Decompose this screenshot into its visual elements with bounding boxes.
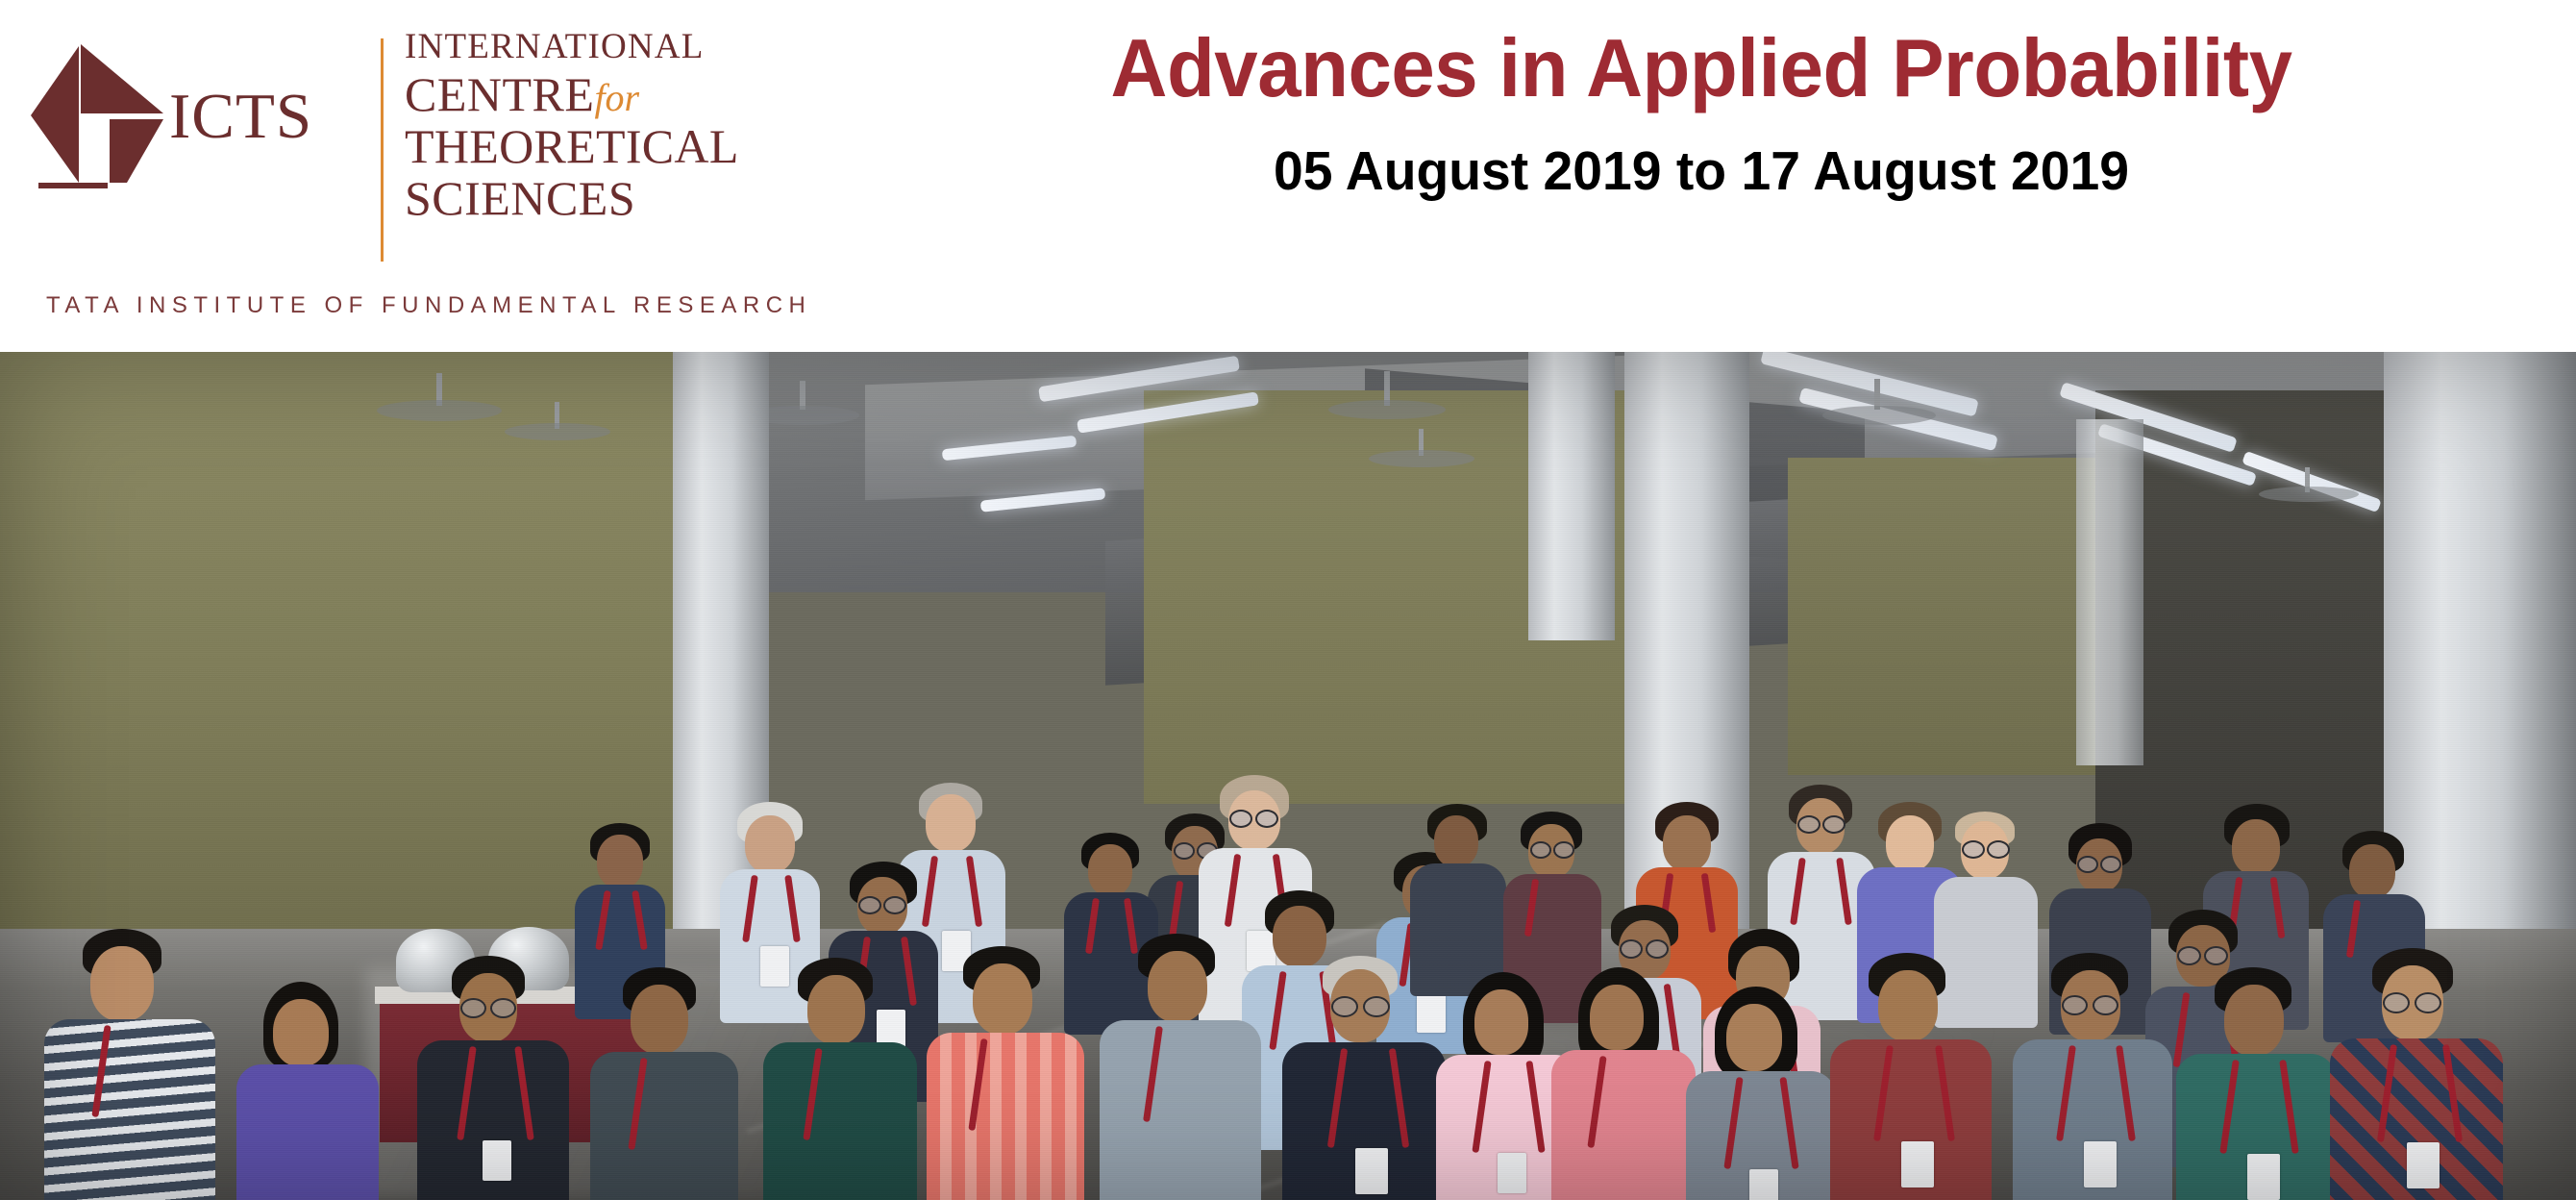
ceiling-fan — [1822, 406, 1936, 425]
person — [231, 982, 384, 1200]
page-title: Advances in Applied Probability — [880, 23, 2523, 114]
ceiling-fan — [505, 423, 610, 440]
concrete-column — [2076, 419, 2143, 765]
person — [38, 929, 221, 1200]
ceiling-fan — [1328, 400, 1446, 419]
parent-institute-label: TATA INSTITUTE OF FUNDAMENTAL RESEARCH — [46, 292, 811, 319]
person — [586, 967, 744, 1200]
event-dates: 05 August 2019 to 17 August 2019 — [872, 139, 2532, 203]
ceiling-fan — [377, 400, 502, 421]
person — [1096, 934, 1267, 1200]
event-title-block: Advances in Applied Probability 05 Augus… — [846, 23, 2557, 203]
wall-olive-right — [1788, 458, 2115, 775]
person — [413, 956, 575, 1200]
icts-diamond-mark-icon — [25, 38, 167, 188]
person — [2172, 967, 2341, 1200]
group-photo — [0, 352, 2576, 1200]
logo-vertical-divider — [381, 38, 384, 262]
person — [1826, 953, 1997, 1200]
person — [923, 946, 1090, 1200]
person — [759, 958, 923, 1200]
person — [2009, 953, 2178, 1200]
ceiling-fan — [1369, 450, 1474, 467]
person — [1548, 967, 1701, 1200]
logo-line-theoretical: THEORETICAL — [405, 122, 847, 170]
person — [1278, 956, 1451, 1200]
icts-acronym: ICTS — [169, 85, 312, 149]
concrete-column — [1528, 352, 1615, 640]
person — [1682, 987, 1842, 1200]
logo-line-sciences: SCIENCES — [405, 174, 847, 222]
person — [2326, 948, 2509, 1200]
banner-header: ICTS INTERNATIONAL CENTREfor THEORETICAL… — [0, 0, 2576, 352]
icts-logo[interactable]: ICTS INTERNATIONAL CENTREfor THEORETICAL… — [25, 17, 842, 344]
logo-line-centre-for: CENTREfor — [405, 70, 847, 118]
icts-full-name: INTERNATIONAL CENTREfor THEORETICAL SCIE… — [405, 29, 847, 222]
logo-line-centre: CENTRE — [405, 67, 594, 121]
event-banner: ICTS INTERNATIONAL CENTREfor THEORETICAL… — [0, 0, 2576, 1200]
ceiling-fan — [2259, 487, 2359, 502]
logo-word-for: for — [594, 76, 639, 119]
logo-line-international: INTERNATIONAL — [405, 29, 847, 64]
